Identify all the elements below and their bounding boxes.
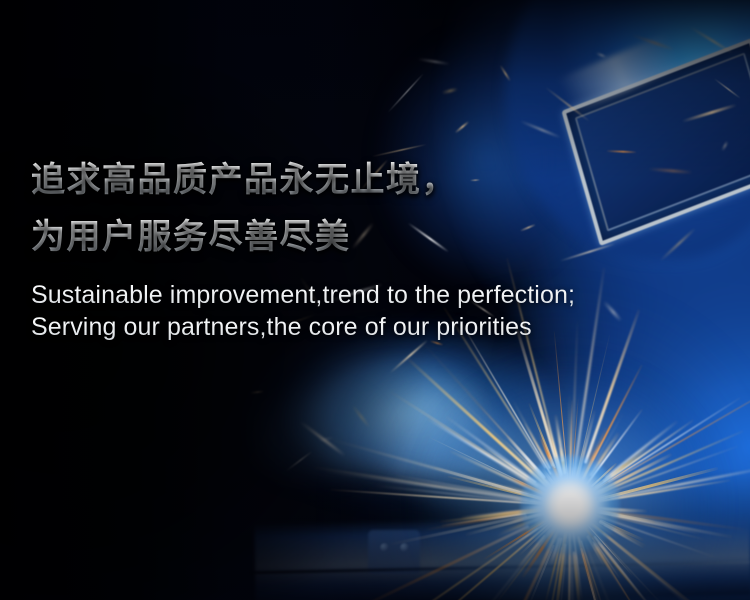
headline-zh-line-2: 为用户服务尽善尽美: [31, 217, 721, 257]
subhead-en-line-2: Serving our partners,the core of our pri…: [31, 311, 721, 343]
welding-hero-banner: 追求高品质产品永无止境， 为用户服务尽善尽美 Sustainable impro…: [0, 0, 750, 600]
subhead-en-line-1: Sustainable improvement,trend to the per…: [31, 279, 721, 311]
banner-copy-block: 追求高品质产品永无止境， 为用户服务尽善尽美 Sustainable impro…: [31, 160, 721, 343]
headline-zh-line-1: 追求高品质产品永无止境，: [31, 160, 721, 200]
